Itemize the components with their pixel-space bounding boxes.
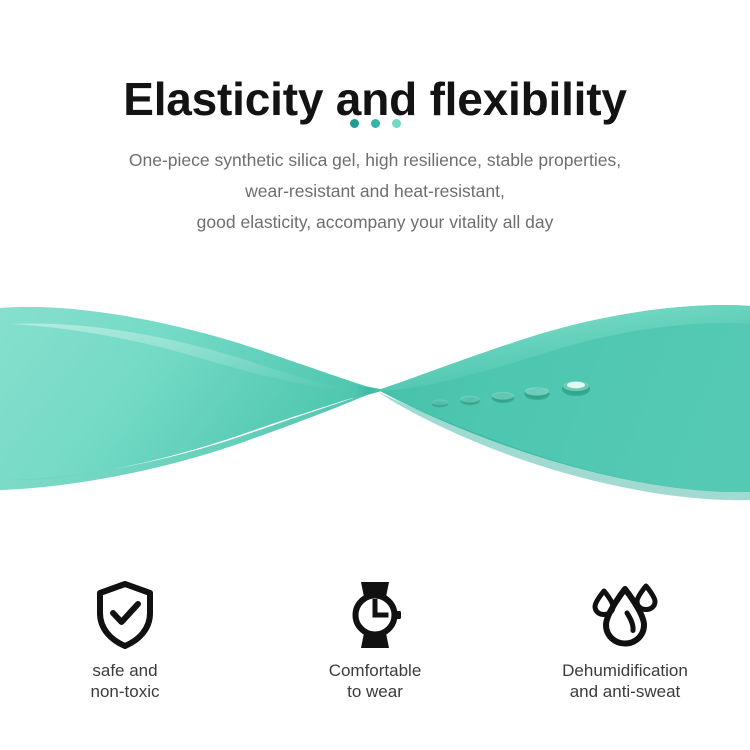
adjustment-hole-5-glint <box>567 382 585 389</box>
description-line-1: One-piece synthetic silica gel, high res… <box>0 145 750 176</box>
dot-1 <box>350 119 359 128</box>
feature-item-comfortable-to-wear: Comfortable to wear <box>250 578 500 702</box>
feature-label-line-2: and anti-sweat <box>562 681 688 702</box>
feature-label-comfortable-to-wear: Comfortable to wear <box>329 660 422 702</box>
page-title: Elasticity and flexibility <box>0 75 750 124</box>
description-block: One-piece synthetic silica gel, high res… <box>0 145 750 238</box>
description-line-3: good elasticity, accompany your vitality… <box>0 207 750 238</box>
feature-item-safe-non-toxic: safe and non-toxic <box>0 578 250 702</box>
feature-label-dehumidification: Dehumidification and anti-sweat <box>562 660 688 702</box>
feature-label-line-2: non-toxic <box>91 681 160 702</box>
dot-separator <box>0 119 750 128</box>
feature-label-line-1: safe and <box>91 660 160 681</box>
dot-2 <box>371 119 380 128</box>
wristwatch-icon <box>340 578 410 652</box>
shield-check-icon <box>90 578 160 652</box>
feature-label-line-2: to wear <box>329 681 422 702</box>
dot-3 <box>392 119 401 128</box>
product-image <box>0 280 750 520</box>
feature-row: safe and non-toxic <box>0 578 750 702</box>
feature-label-line-1: Comfortable <box>329 660 422 681</box>
feature-label-safe-non-toxic: safe and non-toxic <box>91 660 160 702</box>
water-drops-icon <box>590 578 660 652</box>
feature-label-line-1: Dehumidification <box>562 660 688 681</box>
feature-item-dehumidification: Dehumidification and anti-sweat <box>500 578 750 702</box>
product-feature-page: Elasticity and flexibility One-piece syn… <box>0 0 750 750</box>
description-line-2: wear-resistant and heat-resistant, <box>0 176 750 207</box>
